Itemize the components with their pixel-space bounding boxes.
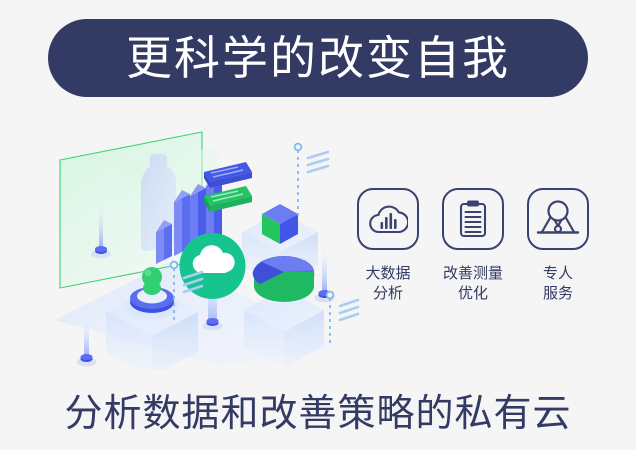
isometric-data-cloud-illustration (46, 120, 366, 370)
pie-chart-3d (253, 256, 315, 302)
feature-item-measure-optimize[interactable]: 改善测量 优化 (437, 188, 509, 328)
support-agent-icon (527, 188, 589, 250)
feature-list: 大数据 分析 改善测量 优化 (352, 188, 594, 328)
feature-label: 大数据 分析 (365, 263, 410, 304)
feature-label: 改善测量 优化 (443, 263, 503, 304)
title-banner: 更科学的改变自我 (48, 19, 588, 97)
dotted-connector-line (295, 144, 328, 216)
poster-root: 更科学的改变自我 大数据 分析 (0, 0, 636, 450)
banner-title: 更科学的改变自我 (126, 35, 510, 81)
feature-item-dedicated-service[interactable]: 专人 服务 (522, 188, 594, 328)
feature-label: 专人 服务 (543, 263, 573, 304)
cloud-bar-chart-icon (357, 188, 419, 250)
clipboard-icon (442, 188, 504, 250)
page-tagline: 分析数据和改善策略的私有云 (0, 382, 636, 437)
feature-item-big-data[interactable]: 大数据 分析 (352, 188, 424, 328)
illustration-svg (46, 120, 366, 370)
